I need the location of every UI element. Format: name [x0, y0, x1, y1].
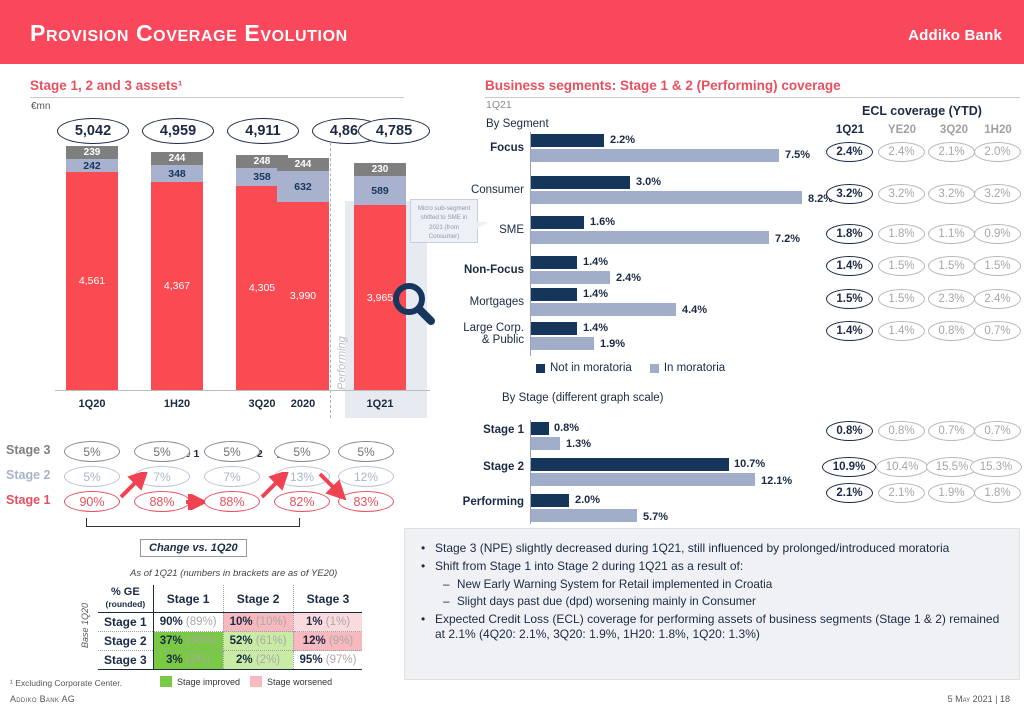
bar-column-1Q20: 239 242 4,561: [66, 146, 118, 390]
table-col-header: Stage 2: [223, 585, 293, 613]
share-pill-stage3: 5%: [134, 441, 190, 462]
table-cell: 95% (97%): [293, 651, 362, 670]
legend-item-in-moratoria: In moratoria: [650, 362, 725, 374]
bullet-marker: •: [421, 541, 435, 557]
performing-label: Performing: [336, 336, 348, 390]
ecl-pill-prev: 0.8%: [878, 421, 925, 441]
bullet-text: Shift from Stage 1 into Stage 2 during 1…: [435, 559, 743, 575]
share-pill-stage2: 7%: [204, 466, 260, 487]
ecl-pill-current: 1.5%: [826, 289, 873, 309]
bar-performing-not-in-moratoria: [531, 494, 569, 507]
share-row-label-stage2: Stage 2: [6, 468, 50, 482]
bar-consumer-not-in-moratoria: [531, 176, 630, 189]
trend-arrow-flat-icon: [185, 494, 205, 510]
ecl-pill-current: 10.9%: [822, 457, 876, 477]
share-pill-stage1: 88%: [204, 491, 260, 512]
bar-stage1-not-in-moratoria: [531, 422, 549, 435]
bar-nonfocus-in-moratoria: [531, 271, 610, 284]
total-pill: 4,785: [358, 118, 430, 144]
ecl-pill-prev: 2.4%: [974, 289, 1021, 309]
bar-value: 0.8%: [554, 422, 579, 434]
bar-value: 3.0%: [636, 176, 661, 188]
bar-value: 1.6%: [590, 216, 615, 228]
bullet-item: • Expected Credit Loss (ECL) coverage fo…: [421, 612, 1003, 644]
bar-segment-stage1: 3,990: [277, 202, 329, 390]
legend-label: Stage improved: [177, 677, 240, 687]
bar-segment-stage1: 4,561: [66, 172, 118, 390]
migration-table: % GE (rounded) Stage 1 Stage 2 Stage 3 S…: [98, 585, 362, 670]
table-cell: 90% (89%): [153, 613, 223, 632]
ecl-pill-prev: 1.4%: [878, 321, 925, 341]
x-tick-label: 1Q21: [354, 398, 406, 410]
ecl-pill-current: 1.4%: [826, 256, 873, 276]
legend-label: Not in moratoria: [550, 362, 632, 374]
cell-value: 2%: [236, 654, 253, 666]
legend-swatch-icon: [536, 364, 545, 373]
bar-segment-stage2: 589: [354, 176, 406, 205]
table-cell: 12% (9%): [293, 632, 362, 651]
cell-value: 90%: [160, 616, 183, 628]
legend-label: Stage worsened: [267, 677, 332, 687]
ecl-pill-current: 2.1%: [826, 483, 873, 503]
left-section-title: Stage 1, 2 and 3 assets¹: [30, 78, 182, 96]
bullet-item: • Stage 3 (NPE) slightly decreased durin…: [421, 541, 1003, 557]
trend-arrow-up-icon: [259, 472, 289, 500]
ecl-pill-prev: 0.8%: [928, 321, 975, 341]
footnote: ¹ Excluding Corporate Center.: [10, 678, 122, 688]
table-cell: 10% (10%): [223, 613, 293, 632]
legend-label: In moratoria: [664, 362, 725, 374]
share-pill-stage3: 5%: [338, 441, 394, 462]
cell-value: 95%: [300, 654, 323, 666]
bar-segment-stage1: 4,367: [151, 182, 203, 390]
table-row: Stage 2 37% (30%) 52% (61%) 12% (9%): [98, 632, 362, 651]
bar-value: 10.7%: [734, 458, 765, 470]
bar-sme-in-moratoria: [531, 231, 769, 244]
bullet-marker: •: [421, 612, 435, 644]
cell-value: 1%: [306, 616, 323, 628]
stacked-assets-chart: Performing 5,042 4,959 4,911 4,866 4,785…: [25, 118, 420, 418]
bar-largecorp-not-in-moratoria: [531, 322, 577, 335]
table-row-header: Stage 3: [98, 651, 153, 670]
legend-swatch-icon: [250, 676, 262, 687]
ecl-pill-prev: 2.4%: [878, 142, 925, 162]
cell-value-prev: (89%): [186, 616, 217, 628]
ecl-pill-prev: 1.5%: [878, 289, 925, 309]
stage-label-performing: Performing: [440, 496, 524, 508]
bar-segment-stage3: 230: [354, 163, 406, 176]
bullet-marker: •: [421, 559, 435, 575]
segment-label-sme: SME: [440, 224, 524, 236]
ecl-pill-prev: 2.1%: [878, 483, 925, 503]
cell-value-prev: (10%): [256, 616, 287, 628]
period-divider: [330, 128, 331, 418]
bar-focus-in-moratoria: [531, 149, 779, 162]
table-cell: 37% (30%): [153, 632, 223, 651]
bar-mortgages-not-in-moratoria: [531, 288, 577, 301]
share-pill-stage3: 5%: [274, 441, 330, 462]
bar-consumer-in-moratoria: [531, 191, 802, 204]
ecl-pill-current: 3.2%: [826, 184, 873, 204]
bullet-marker: –: [443, 577, 457, 592]
commentary-panel: • Stage 3 (NPE) slightly decreased durin…: [404, 528, 1020, 680]
bullet-text: Stage 3 (NPE) slightly decreased during …: [435, 541, 949, 557]
segment-label-focus: Focus: [440, 142, 524, 154]
bar-segment-stage2: 348: [151, 165, 203, 182]
bar-value: 1.4%: [583, 256, 608, 268]
bar-segment-stage3: 244: [277, 158, 329, 171]
bar-value: 5.7%: [643, 511, 668, 523]
bar-performing-in-moratoria: [531, 509, 637, 522]
table-row-header: Stage 1: [98, 613, 153, 632]
bar-focus-not-in-moratoria: [531, 134, 604, 147]
table-cell: 2% (2%): [223, 651, 293, 670]
cell-value-prev: (97%): [326, 654, 357, 666]
segment-label-consumer: Consumer: [440, 184, 524, 196]
corner-sub: (rounded): [106, 599, 146, 609]
bullet-text: Slight days past due (dpd) worsening mai…: [457, 594, 756, 609]
ecl-pill-prev: 0.9%: [974, 224, 1021, 244]
share-pill-stage1: 90%: [64, 491, 120, 512]
cell-value-prev: (2%): [186, 654, 210, 666]
legend-item-stage-improved: Stage improved: [160, 676, 240, 687]
magnifier-icon: [390, 280, 438, 328]
share-pill-stage3: 5%: [64, 441, 120, 462]
bar-value: 1.4%: [583, 322, 608, 334]
bar-stage2-in-moratoria: [531, 473, 755, 486]
bullet-item-sub: – New Early Warning System for Retail im…: [421, 577, 1003, 592]
corner-title: % GE: [111, 586, 140, 598]
ecl-pill-prev: 0.7%: [974, 421, 1021, 441]
ecl-pill-prev: 15.3%: [970, 457, 1022, 477]
bar-segment-stage2: 242: [66, 159, 118, 172]
bar-value: 2.0%: [575, 494, 600, 506]
migration-table-caption: As of 1Q21 (numbers in brackets are as o…: [130, 568, 337, 579]
bar-segment-stage3: 239: [66, 146, 118, 159]
bar-nonfocus-not-in-moratoria: [531, 256, 577, 269]
table-color-legend: Stage improved Stage worsened: [160, 676, 332, 687]
ecl-pill-prev: 2.0%: [974, 142, 1021, 162]
x-tick-label: 1H20: [151, 398, 203, 410]
stage-label-stage2: Stage 2: [440, 461, 524, 473]
table-row: Stage 1 90% (89%) 10% (10%) 1% (1%): [98, 613, 362, 632]
ecl-pill-current: 1.4%: [826, 321, 873, 341]
cell-value-prev: (9%): [329, 635, 353, 647]
ecl-pill-prev: 1.8%: [878, 224, 925, 244]
ecl-pill-prev: 1.9%: [928, 483, 975, 503]
ecl-pill-prev: 3.2%: [928, 184, 975, 204]
bar-column-1Q21: 230 589 3,965: [354, 163, 406, 390]
slide-header: Provision Coverage Evolution Addiko Bank: [0, 0, 1024, 64]
ecl-pill-prev: 2.1%: [928, 142, 975, 162]
footer-company: Addiko Bank AG: [10, 694, 75, 704]
brand-logo: Addiko Bank: [908, 27, 1002, 44]
bar-value: 2.2%: [610, 134, 635, 146]
ecl-pill-prev: 1.5%: [974, 256, 1021, 276]
moratoria-legend: Not in moratoria In moratoria: [536, 362, 725, 374]
table-header-row: % GE (rounded) Stage 1 Stage 2 Stage 3: [98, 585, 362, 613]
table-cell: 3% (2%): [153, 651, 223, 670]
stage-label-stage1: Stage 1: [440, 424, 524, 436]
bar-column-1H20: 244 348 4,367: [151, 152, 203, 390]
bar-segment-stage3: 244: [151, 152, 203, 165]
total-pill: 5,042: [57, 118, 129, 144]
segment-label-non-focus: Non-Focus: [440, 264, 524, 276]
x-tick-label: 1Q20: [66, 398, 118, 410]
cell-value-prev: (61%): [256, 635, 287, 647]
ecl-pill-prev: 3.2%: [974, 184, 1021, 204]
segment-label-large-corp: Large Corp.& Public: [440, 322, 524, 347]
bar-value: 4.4%: [682, 304, 707, 316]
ecl-pill-current: 2.4%: [826, 142, 873, 162]
bar-value: 7.2%: [775, 233, 800, 245]
bar-mortgages-in-moratoria: [531, 303, 676, 316]
bar-value: 7.5%: [785, 149, 810, 161]
left-unit-label: €mn: [31, 101, 50, 112]
bar-value: 1.3%: [566, 438, 591, 450]
ecl-pill-prev: 3.2%: [878, 184, 925, 204]
cell-value: 37%: [160, 635, 183, 647]
table-row: Stage 3 3% (2%) 2% (2%) 95% (97%): [98, 651, 362, 670]
bar-stage2-not-in-moratoria: [531, 458, 729, 471]
ecl-pill-prev: 1.1%: [928, 224, 975, 244]
by-stage-label: By Stage (different graph scale): [502, 392, 664, 404]
cell-value: 12%: [303, 635, 326, 647]
bullet-text: Expected Credit Loss (ECL) coverage for …: [435, 612, 1003, 644]
page-title: Provision Coverage Evolution: [30, 20, 348, 47]
table-row-header: Stage 2: [98, 632, 153, 651]
legend-item-not-in-moratoria: Not in moratoria: [536, 362, 632, 374]
migration-base-label: Base 1Q20: [80, 603, 90, 648]
legend-swatch-icon: [160, 676, 172, 687]
x-tick-label: 2020: [277, 398, 329, 410]
bar-largecorp-in-moratoria: [531, 337, 594, 350]
share-pill-stage3: 5%: [204, 441, 260, 462]
share-row-label-stage3: Stage 3: [6, 443, 50, 457]
ecl-pill-prev: 1.5%: [878, 256, 925, 276]
total-pill: 4,959: [142, 118, 214, 144]
ecl-pill-prev: 1.8%: [974, 483, 1021, 503]
change-brace: [86, 518, 300, 527]
footer-date-page: 5 May 2021 | 18: [948, 694, 1010, 704]
share-row-label-stage1: Stage 1: [6, 493, 50, 507]
legend-item-stage-worsened: Stage worsened: [250, 676, 332, 687]
table-cell: 1% (1%): [293, 613, 362, 632]
ecl-pill-current: 1.8%: [826, 224, 873, 244]
ecl-pill-prev: 2.3%: [928, 289, 975, 309]
trend-arrow-up-icon: [118, 472, 148, 500]
ecl-pill-current: 0.8%: [826, 421, 873, 441]
table-col-header: Stage 3: [293, 585, 362, 613]
change-annotation: Change vs. 1Q20: [140, 539, 247, 557]
x-axis-line: [55, 390, 430, 391]
bullet-item-sub: – Slight days past due (dpd) worsening m…: [421, 594, 1003, 609]
bullet-marker: –: [443, 594, 457, 609]
table-col-header: Stage 1: [153, 585, 223, 613]
bar-value: 1.9%: [600, 338, 625, 350]
bar-segment-stage2: 632: [277, 171, 329, 202]
cell-value-prev: (1%): [326, 616, 350, 628]
bar-value: 12.1%: [761, 475, 792, 487]
bullet-item: • Shift from Stage 1 into Stage 2 during…: [421, 559, 1003, 575]
table-cell: 52% (61%): [223, 632, 293, 651]
bar-value: 1.4%: [583, 288, 608, 300]
bar-value: 2.4%: [616, 272, 641, 284]
bar-sme-not-in-moratoria: [531, 216, 584, 229]
total-pill: 4,911: [227, 118, 299, 144]
ecl-pill-prev: 1.5%: [928, 256, 975, 276]
legend-swatch-icon: [650, 364, 659, 373]
ecl-pill-prev: 0.7%: [974, 321, 1021, 341]
table-corner-cell: % GE (rounded): [98, 585, 153, 613]
cell-value: 52%: [230, 635, 253, 647]
cell-value-prev: (2%): [256, 654, 280, 666]
left-title-rule: [30, 97, 404, 98]
slide-root: Provision Coverage Evolution Addiko Bank…: [0, 0, 1024, 709]
segment-label-mortgages: Mortgages: [440, 296, 524, 308]
cell-value: 3%: [166, 654, 183, 666]
share-pill-stage2: 5%: [64, 466, 120, 487]
trend-arrow-down-icon: [318, 470, 348, 500]
ecl-pill-prev: 10.4%: [876, 457, 928, 477]
cell-value-prev: (30%): [186, 635, 217, 647]
cell-value: 10%: [230, 616, 253, 628]
bullet-text: New Early Warning System for Retail impl…: [457, 577, 772, 592]
bar-column-2020: 244 632 3,990: [277, 158, 329, 390]
ecl-pill-prev: 0.7%: [928, 421, 975, 441]
bar-stage1-in-moratoria: [531, 437, 560, 450]
